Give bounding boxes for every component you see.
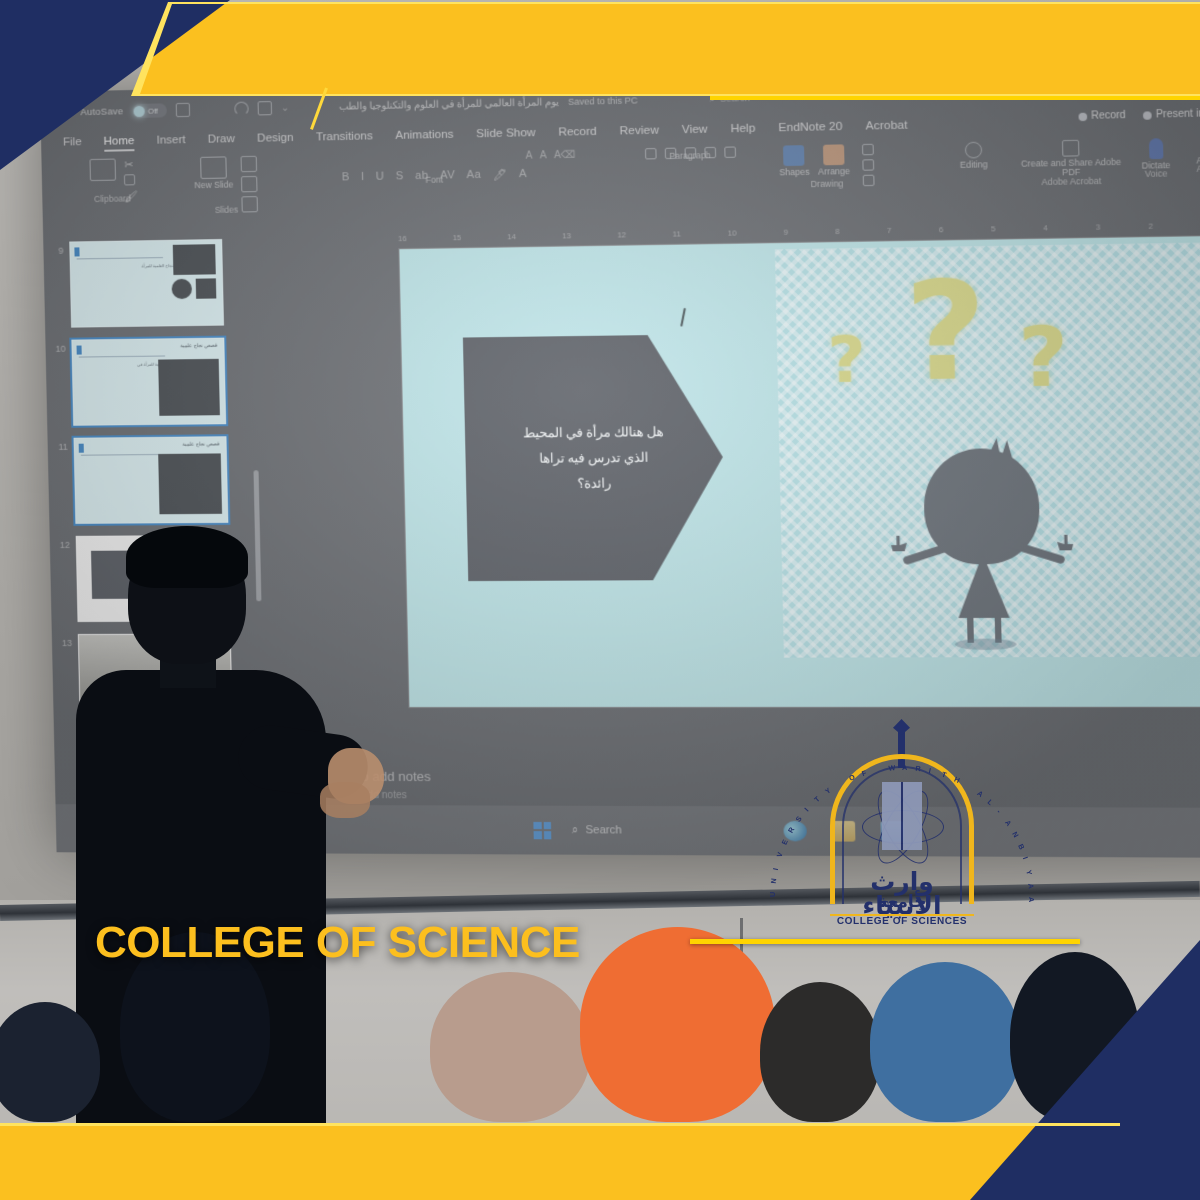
shapes-icon[interactable]	[783, 145, 804, 166]
question-line-1: هل هنالك مرأة في المحيط	[483, 419, 705, 447]
audience-head	[760, 982, 880, 1122]
ribbon-group-adobe-acrobat: Create and Share Adobe PDF Adobe Acrobat	[1012, 139, 1131, 179]
thumbnail-number: 9	[49, 242, 63, 256]
increase-font-icon[interactable]: A	[526, 150, 533, 161]
text-cursor	[680, 308, 686, 326]
page-title: COLLEGE OF SCIENCE	[95, 918, 580, 968]
search-icon: ⌕	[572, 824, 579, 837]
logo-arc-letter: O	[847, 772, 856, 783]
taskbar-search-label: Search	[585, 824, 621, 836]
present-in-teams-button[interactable]: Present in Teams	[1143, 107, 1200, 120]
logo-arc-letter: T	[812, 794, 822, 804]
thumb-accent-bar	[74, 247, 79, 256]
windows-start-icon[interactable]	[533, 821, 551, 838]
quick-styles-icon[interactable]	[862, 144, 874, 156]
person-silhouette-icon	[884, 437, 1080, 645]
screenshot-canvas: AutoSave Off ⌄ يوم المرأة العالمي للمرأة…	[0, 0, 1200, 1200]
ruler-tick: 15	[453, 233, 462, 242]
tab-draw[interactable]: Draw	[208, 133, 235, 146]
tab-record[interactable]: Record	[558, 126, 597, 139]
tab-file[interactable]: File	[63, 136, 82, 148]
tab-home[interactable]: Home	[104, 135, 135, 148]
question-text: هل هنالك مرأة في المحيط الذي تدرس فيه تر…	[483, 419, 706, 497]
present-label: Present in Teams	[1156, 107, 1200, 120]
thumb-accent-bar	[77, 346, 82, 355]
ribbon-group-paragraph: Paragraph	[591, 145, 790, 160]
tab-transitions[interactable]: Transitions	[316, 130, 373, 143]
taskbar-search[interactable]: ⌕ Search	[572, 824, 622, 837]
ruler-tick: 2	[1148, 221, 1153, 230]
group-label-slides: Slides	[171, 204, 282, 216]
group-label-clipboard: Clipboard	[66, 193, 159, 205]
thinking-person-clipart[interactable]: ? ? ?	[775, 243, 1200, 658]
thumb-image	[158, 359, 220, 416]
logo-arc-letter: W	[888, 763, 896, 773]
group-label-voice: Voice	[1126, 168, 1187, 179]
question-line-3: رائدة؟	[484, 470, 706, 497]
logo-arc-letter: N	[769, 877, 779, 884]
redo-icon[interactable]	[257, 101, 272, 115]
logo-arc-letter: I	[928, 766, 932, 775]
thumb-divider	[81, 454, 167, 456]
logo-arc-letter: T	[941, 770, 948, 780]
tab-endnote[interactable]: EndNote 20	[778, 121, 842, 135]
thumb-divider	[79, 355, 165, 357]
paste-icon[interactable]	[89, 159, 116, 182]
taskbar-center-group: ⌕ Search	[533, 821, 621, 839]
question-hexagon-shape[interactable]: هل هنالك مرأة في المحيط الذي تدرس فيه تر…	[463, 334, 726, 581]
audience-head	[870, 962, 1020, 1122]
thumbnail-number: 11	[54, 438, 68, 452]
lecture-photo: AutoSave Off ⌄ يوم المرأة العالمي للمرأة…	[0, 0, 1200, 1200]
ribbon-group-drawing: Shapes Arrange D	[763, 143, 890, 187]
ribbon-group-font: A A A⌫ B I U S ab AV Aa 🖊	[293, 150, 576, 186]
ribbon-group-addins: Add-ins Add-ins	[1183, 137, 1200, 167]
ribbon-right-commands: Record Present in Teams	[1078, 107, 1200, 122]
tab-animations[interactable]: Animations	[395, 129, 454, 142]
audience-head	[430, 972, 590, 1122]
editing-label: Editing	[935, 160, 1012, 171]
tab-help[interactable]: Help	[730, 123, 755, 136]
reset-icon[interactable]	[241, 176, 258, 192]
bottom-banner-edge-line	[0, 1123, 1120, 1126]
thumb-image	[158, 453, 222, 514]
thumbnail-item[interactable]: 11 قصص نجاح علمية نص توضيحي قصير	[54, 436, 266, 524]
slide-editing-area[interactable]: ? ? ?	[399, 236, 1200, 707]
logo-arc-letter: F	[861, 768, 868, 778]
logo-arc-letter: R	[915, 764, 922, 774]
question-line-2: الذي تدرس فيه تراها	[483, 444, 705, 471]
autosave-toggle[interactable]: Off	[132, 103, 167, 118]
logo-arc-letter: A	[1027, 897, 1036, 903]
undo-icon[interactable]	[234, 102, 248, 116]
ruler-tick: 9	[783, 228, 788, 237]
thumb-image	[173, 244, 216, 275]
thumbnail-title: قصص نجاح علمية	[180, 343, 217, 350]
group-label-drawing: Drawing	[764, 177, 891, 190]
arrange-label: Arrange	[818, 167, 850, 177]
ribbon-group-editing: Editing	[935, 141, 1012, 171]
thumbnail-title: قصص نجاح علمية	[182, 441, 219, 447]
thumb-accent-bar	[79, 444, 84, 453]
thumbnail-number: 10	[51, 340, 65, 354]
cut-icon[interactable]: ✂	[123, 158, 134, 169]
tab-slide-show[interactable]: Slide Show	[476, 127, 536, 140]
ruler-tick: 5	[991, 224, 996, 233]
ruler-tick: 13	[562, 231, 571, 240]
ruler-tick: 12	[617, 230, 626, 239]
ruler-tick: 7	[887, 226, 892, 235]
ruler-tick: 10	[728, 228, 737, 237]
university-logo: UNIVERSITY OF WARITH AL-ANBIYAA وارث الأ…	[812, 728, 992, 928]
ribbon-group-clipboard: ✂ 🖌 Clipboard	[65, 158, 158, 203]
record-icon	[1078, 112, 1087, 120]
title-underline-rule	[690, 939, 1080, 944]
create-pdf-icon[interactable]	[1062, 140, 1080, 157]
ruler-tick: 4	[1043, 223, 1048, 232]
save-icon[interactable]	[175, 103, 189, 117]
ruler-tick: 6	[939, 225, 944, 234]
shape-fill-icon[interactable]	[862, 159, 874, 171]
logo-arc-letter: A	[902, 763, 908, 772]
ribbon-group-voice: Dictate Voice	[1125, 138, 1186, 172]
new-slide-label: New Slide	[194, 180, 233, 190]
group-label-addins: Add-ins	[1184, 163, 1200, 174]
question-mark-icon: ?	[1018, 309, 1070, 406]
tab-acrobat[interactable]: Acrobat	[866, 119, 908, 132]
record-label: Record	[1091, 110, 1126, 122]
clear-formatting-icon[interactable]: A⌫	[554, 150, 576, 162]
audience-head	[580, 927, 775, 1122]
logo-arc-letter: Y	[823, 786, 832, 796]
arrange-icon[interactable]	[823, 144, 845, 165]
shapes-label: Shapes	[779, 168, 810, 178]
thumbnail-preview[interactable]: قصص نجاح علمية نص توضيحي عن قصص النجاح ا…	[71, 338, 226, 426]
question-mark-icon: ?	[904, 252, 989, 412]
ruler-tick: 16	[398, 234, 407, 243]
thumbnail-item[interactable]: 9 قصص نجاح علمية نص توضيحي عن قصص النجاح…	[49, 238, 261, 328]
layout-icon[interactable]	[241, 156, 258, 172]
teams-icon	[1143, 111, 1152, 119]
editing-icon[interactable]	[965, 142, 982, 159]
thumbnail-preview[interactable]: قصص نجاح علمية نص توضيحي عن قصص النجاح ا…	[69, 239, 224, 328]
customize-quick-access-icon[interactable]: ⌄	[281, 102, 290, 113]
logo-arc-letter: A	[1026, 883, 1036, 890]
logo-year: 2023	[880, 900, 898, 909]
thumbnail-item[interactable]: 10 قصص نجاح علمية نص توضيحي عن قصص النجا…	[51, 337, 263, 426]
autosave-label: AutoSave	[80, 106, 123, 118]
new-slide-icon[interactable]	[200, 156, 227, 179]
current-slide[interactable]: ? ? ?	[399, 236, 1200, 707]
group-label-adobe: Adobe Acrobat	[1013, 175, 1131, 187]
document-filename: يوم المرأة العالمي للمرأة في العلوم والت…	[339, 96, 559, 112]
decrease-font-icon[interactable]: A	[540, 150, 547, 161]
ruler-tick: 3	[1096, 222, 1101, 231]
record-button[interactable]: Record	[1078, 110, 1126, 122]
copy-icon[interactable]	[123, 174, 134, 185]
thumb-image	[171, 279, 192, 299]
thumb-image	[196, 278, 217, 298]
ruler-tick: 11	[673, 229, 681, 238]
logo-arabic-sub: جامعة	[828, 892, 976, 912]
ribbon-group-slides: New Slide Slides	[170, 155, 282, 213]
tab-insert[interactable]: Insert	[156, 134, 185, 147]
top-accent-rule	[710, 96, 1200, 100]
tab-design[interactable]: Design	[257, 132, 294, 145]
tab-review[interactable]: Review	[619, 124, 659, 137]
audience-head	[0, 1002, 100, 1122]
thumbnail-preview[interactable]: قصص نجاح علمية نص توضيحي قصير	[74, 436, 229, 524]
logo-arc-letter: H	[953, 775, 962, 785]
microphone-icon[interactable]	[1148, 138, 1162, 159]
question-mark-icon: ?	[827, 322, 867, 398]
ruler-tick: 8	[835, 227, 840, 236]
logo-college-name: COLLEGE OF SCIENCES	[822, 916, 982, 927]
logo-arc-letter: A	[975, 789, 985, 800]
logo-arc-letter: U	[768, 891, 777, 897]
ruler-tick: 14	[507, 232, 516, 241]
autosave-state: Off	[148, 106, 158, 115]
save-status: Saved to this PC	[568, 95, 638, 107]
thumbnail-number: 12	[56, 536, 70, 550]
tab-view[interactable]: View	[682, 123, 708, 136]
thumb-divider	[77, 257, 163, 259]
